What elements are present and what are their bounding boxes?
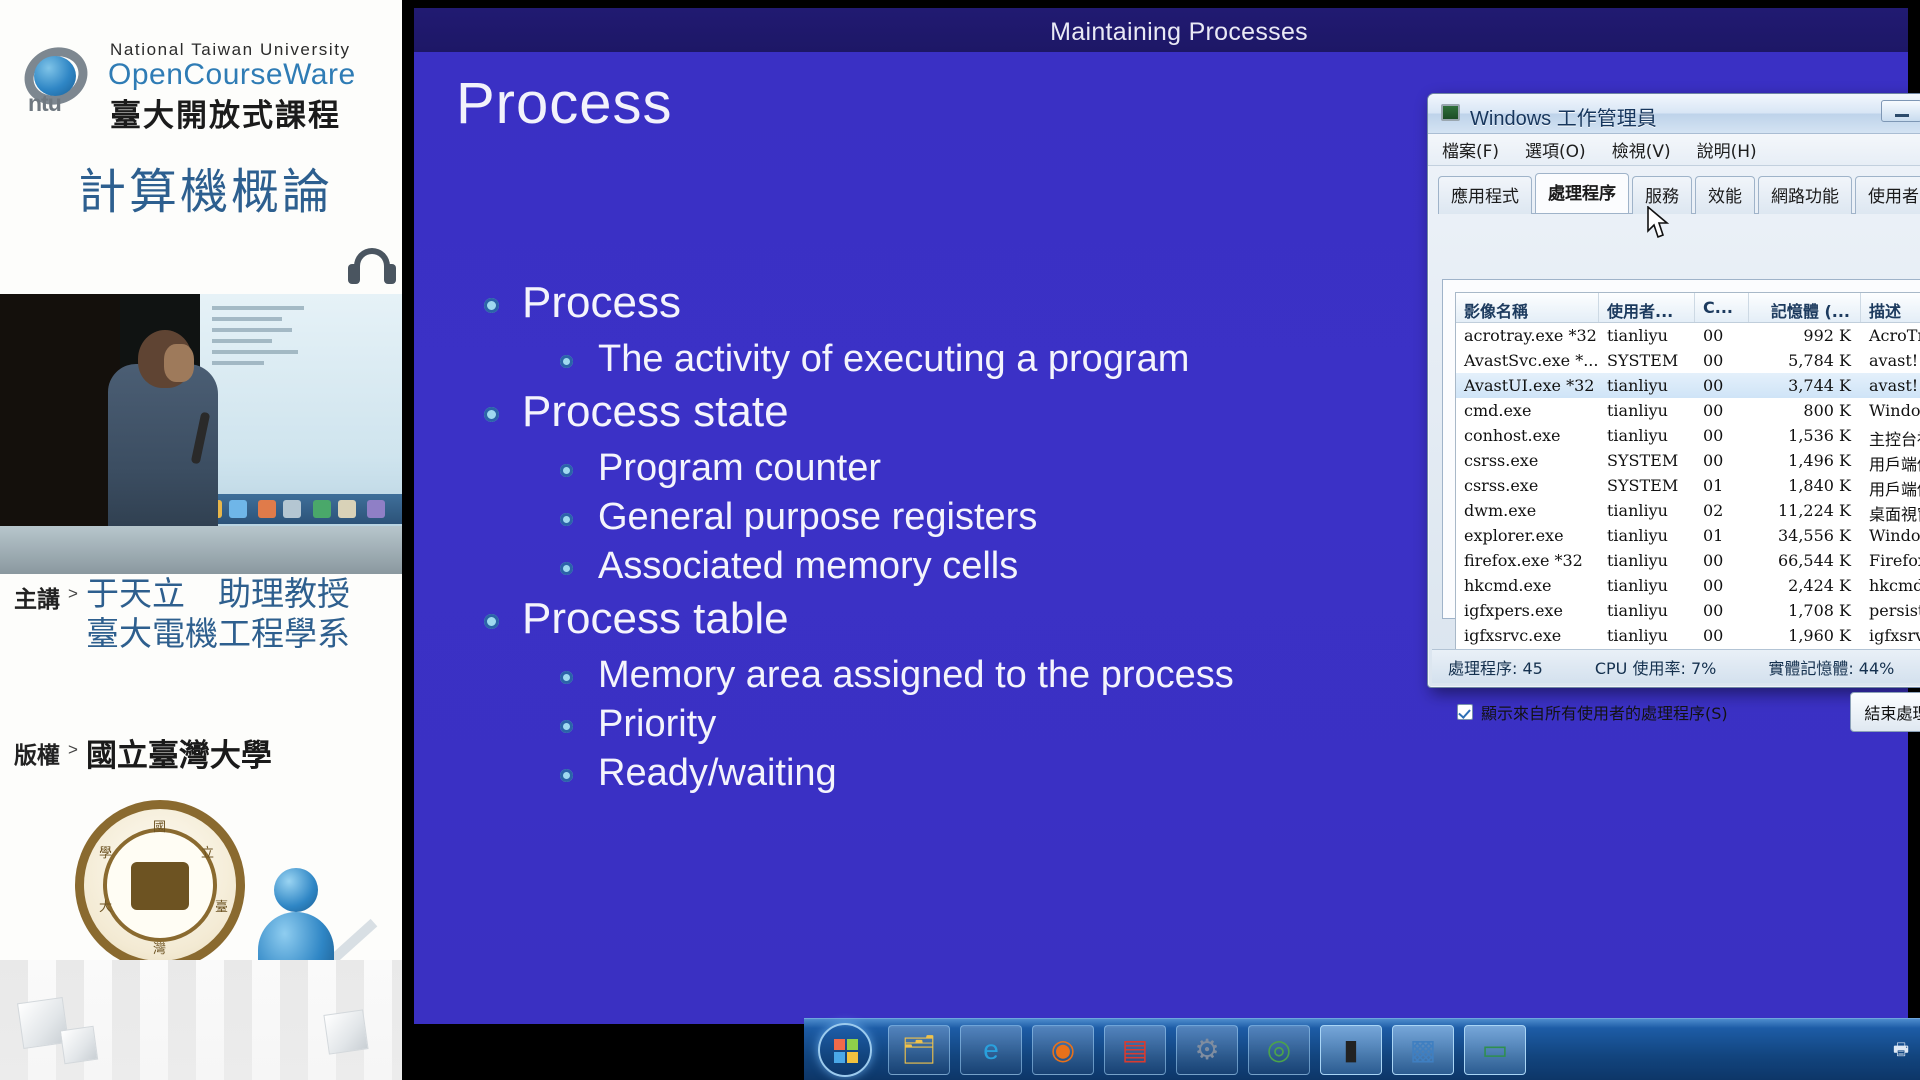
taskbar-item-task-manager[interactable]: ▩ [1392,1025,1454,1075]
instructor-name: 于天立 助理教授 [86,574,350,614]
task-manager-icon: ▩ [1410,1036,1436,1064]
table-cell: 00 [1695,573,1749,598]
tab-使用者[interactable]: 使用者 [1855,176,1920,214]
screen: ntu National Taiwan University OpenCours… [0,0,1920,1080]
table-cell: SYSTEM [1599,448,1695,473]
ntu-seal-icon: 國 立 臺 灣 大 學 [75,800,245,970]
table-cell: 800 K [1749,398,1861,423]
table-cell: conhost.exe [1456,423,1599,448]
table-cell: 桌面視窗… [1861,498,1920,523]
instructor-block: 主講 > 于天立 助理教授 臺大電機工程學系 [0,574,402,655]
windows-taskbar: 🗂e◉▤⚙◎▮▩▭ 🖶?⇅▲⚑⛨▁▃▅🔊 下午 05:21 2013/3/13 [804,1018,1920,1080]
start-orb[interactable] [818,1023,872,1077]
seal-char: 臺 [215,896,228,915]
lecture-video-thumbnail[interactable] [0,294,402,574]
table-row[interactable]: igfxpers.exetianliyu001,708 Kpersistence… [1456,598,1920,623]
slide-title: Process [456,70,673,137]
table-cell: csrss.exe [1456,473,1599,498]
table-cell: 01 [1695,473,1749,498]
seal-char: 大 [99,896,112,915]
taskbar-item-firefox[interactable]: ◉ [1032,1025,1094,1075]
table-cell: tianliyu [1599,598,1695,623]
printer-icon[interactable]: 🖶 [1889,1038,1913,1062]
column-header[interactable]: C... [1695,293,1749,322]
table-cell: 01 [1695,523,1749,548]
chrome-icon: ◎ [1267,1036,1291,1064]
table-body[interactable]: acrotray.exe *32tianliyu00992 KAcroTrayA… [1456,323,1920,678]
table-cell: 11,224 K [1749,498,1861,523]
menu-bar: 檔案(F)選項(O)檢視(V)說明(H) [1428,134,1920,166]
copyright-label: 版權 [14,730,60,770]
table-cell: 00 [1695,598,1749,623]
table-cell: explorer.exe [1456,523,1599,548]
window-title: Windows 工作管理員 [1470,102,1657,131]
table-cell: tianliyu [1599,373,1695,398]
minimize-button[interactable] [1881,100,1920,122]
taskbar-item-internet-explorer[interactable]: e [960,1025,1022,1075]
seal-char: 立 [201,842,214,861]
logo-line-opencourseware: OpenCourseWare [108,58,356,92]
table-row[interactable]: igfxsrvc.exetianliyu001,960 Kigfxsrvc M… [1456,623,1920,648]
table-cell: 02 [1695,498,1749,523]
taskbar-item-chrome[interactable]: ◎ [1248,1025,1310,1075]
table-cell: tianliyu [1599,498,1695,523]
seal-char: 國 [153,816,166,835]
processes-tab-panel: 影像名稱使用者...C...記憶體 (...描述 acrotray.exe *3… [1442,279,1920,619]
table-cell: hkcmd Mo… [1861,573,1920,598]
presentation-icon: ▭ [1482,1036,1508,1064]
task-manager-icon [1441,104,1460,121]
table-cell: 00 [1695,448,1749,473]
decorative-cube [323,1009,368,1054]
table-cell: avast! Serv… [1861,348,1920,373]
menu-item[interactable]: 選項(O) [1525,137,1586,162]
table-cell: 00 [1695,398,1749,423]
slide-header-band: Maintaining Processes [414,8,1908,52]
table-cell: 2,424 K [1749,573,1861,598]
status-cpu-usage: CPU 使用率: 7% [1595,655,1716,679]
table-cell: persistence… [1861,598,1920,623]
taskbar-item-network-tool[interactable]: ⚙ [1176,1025,1238,1075]
table-cell: igfxpers.exe [1456,598,1599,623]
table-cell: 1,840 K [1749,473,1861,498]
table-cell: 用戶端伺… [1861,448,1920,473]
slide-bullet-level-2: Ready/waiting [474,752,1474,795]
slide-bullet-level-2: Priority [474,703,1474,746]
slide-bullet-level-2: Memory area assigned to the process [474,654,1474,697]
table-cell: 00 [1695,348,1749,373]
slide-bullet-level-2: The activity of executing a program [474,338,1474,381]
table-cell: tianliyu [1599,423,1695,448]
column-header[interactable]: 描述 [1861,293,1920,322]
taskbar-item-pdf-reader[interactable]: ▤ [1104,1025,1166,1075]
table-row[interactable]: cmd.exetianliyu00800 KWindows … [1456,398,1920,423]
slide-bullet-level-2: General purpose registers [474,496,1474,539]
column-header[interactable]: 使用者... [1599,293,1695,322]
windows-explorer-icon: 🗂 [901,1036,937,1064]
table-header-row[interactable]: 影像名稱使用者...C...記憶體 (...描述 [1456,293,1920,323]
slide-bullet-list: ProcessThe activity of executing a progr… [474,278,1474,801]
table-cell: 1,536 K [1749,423,1861,448]
network-tool-icon: ⚙ [1194,1036,1219,1064]
table-cell: 主控台視… [1861,423,1920,448]
table-row[interactable]: AvastSvc.exe *...SYSTEM005,784 Kavast! S… [1456,348,1920,373]
table-cell: tianliyu [1599,323,1695,348]
minimize-icon [1895,114,1909,117]
seal-char: 灣 [153,938,166,957]
table-row[interactable]: firefox.exe *32tianliyu0066,544 KFirefox [1456,548,1920,573]
slide-bullet-level-1: Process [474,278,1474,328]
show-all-users-checkbox[interactable]: 顯示來自所有使用者的處理程序(S) [1457,700,1728,724]
menu-item[interactable]: 檢視(V) [1612,137,1671,162]
taskbar-item-windows-explorer[interactable]: 🗂 [888,1025,950,1075]
table-cell: 66,544 K [1749,548,1861,573]
pdf-reader-icon: ▤ [1122,1036,1148,1064]
status-bar: 處理程序: 45 CPU 使用率: 7% 實體記憶體: 44% [1432,649,1920,683]
logo-line-university: National Taiwan University [110,40,351,60]
table-cell: cmd.exe [1456,398,1599,423]
table-cell: 1,960 K [1749,623,1861,648]
command-prompt-icon: ▮ [1343,1036,1358,1064]
course-title: 計算機概論 [78,152,333,222]
table-cell: 00 [1695,323,1749,348]
tab-strip: 應用程式處理程序服務效能網路功能使用者 [1438,178,1920,214]
table-cell: 00 [1695,423,1749,448]
table-cell: tianliyu [1599,573,1695,598]
table-cell: Firefox [1861,548,1920,573]
table-cell: tianliyu [1599,623,1695,648]
taskbar-item-presentation[interactable]: ▭ [1464,1025,1526,1075]
instructor-label: 主講 [14,574,60,614]
table-cell: hkcmd.exe [1456,573,1599,598]
menu-item[interactable]: 說明(H) [1697,137,1757,162]
table-cell: tianliyu [1599,523,1695,548]
task-manager-window[interactable]: Windows 工作管理員 ✕ 檔案(F)選項(O)檢視(V)說明(H) 應用程… [1427,93,1920,688]
seal-char: 學 [99,842,112,861]
slide-bullet-level-1: Process state [474,387,1474,437]
system-tray: 🖶?⇅▲⚑⛨▁▃▅🔊 [1889,1019,1920,1080]
slide-bullet-level-2: Associated memory cells [474,545,1474,588]
logo-line-chinese: 臺大開放式課程 [110,90,341,135]
instructor-department: 臺大電機工程學系 [86,614,350,654]
table-cell: Windows … [1861,523,1920,548]
table-cell: 5,784 K [1749,348,1861,373]
window-titlebar[interactable]: Windows 工作管理員 ✕ [1428,94,1920,134]
show-all-users-label: 顯示來自所有使用者的處理程序(S) [1481,700,1728,724]
table-cell: SYSTEM [1599,473,1695,498]
decorative-cube [60,1026,98,1064]
table-cell: Windows … [1861,398,1920,423]
firefox-icon: ◉ [1051,1036,1075,1064]
table-cell: 992 K [1749,323,1861,348]
status-physical-memory: 實體記憶體: 44% [1768,655,1894,679]
table-row[interactable]: conhost.exetianliyu001,536 K主控台視… [1456,423,1920,448]
slide-bullet-level-2: Program counter [474,447,1474,490]
table-cell: acrotray.exe *32 [1456,323,1599,348]
table-cell: dwm.exe [1456,498,1599,523]
checkbox-box[interactable] [1457,704,1473,720]
internet-explorer-icon: e [983,1036,999,1064]
status-process-count: 處理程序: 45 [1448,655,1543,679]
table-row[interactable]: dwm.exetianliyu0211,224 K桌面視窗… [1456,498,1920,523]
copyright-block: 版權 > 國立臺灣大學 [0,730,402,775]
copyright-owner: 國立臺灣大學 [86,730,272,775]
table-cell: AcroTray [1861,323,1920,348]
column-header[interactable]: 影像名稱 [1456,293,1599,322]
course-info-sidebar: ntu National Taiwan University OpenCours… [0,0,402,1080]
table-row[interactable]: acrotray.exe *32tianliyu00992 KAcroTray [1456,323,1920,348]
taskbar-item-command-prompt[interactable]: ▮ [1320,1025,1382,1075]
table-row[interactable]: AvastUI.exe *32tianliyu003,744 Kavast! A… [1456,373,1920,398]
screen-capture-area: Maintaining Processes Process ProcessThe… [402,0,1920,1080]
menu-item[interactable]: 檔案(F) [1442,137,1499,162]
process-table[interactable]: 影像名稱使用者...C...記憶體 (...描述 acrotray.exe *3… [1455,292,1920,678]
table-cell: 00 [1695,548,1749,573]
table-row[interactable]: explorer.exetianliyu0134,556 KWindows … [1456,523,1920,548]
windows-flag-icon [834,1039,860,1065]
table-cell: SYSTEM [1599,348,1695,373]
slide-bullet-level-1: Process table [474,594,1474,644]
table-cell: 3,744 K [1749,373,1861,398]
instructor-caret: > [68,574,78,604]
tab-效能[interactable]: 效能 [1695,176,1755,214]
tab-處理程序[interactable]: 處理程序 [1535,173,1629,213]
column-header[interactable]: 記憶體 (... [1749,293,1861,322]
ntu-wordmark: ntu [28,90,61,117]
table-cell: AvastSvc.exe *... [1456,348,1599,373]
table-row[interactable]: csrss.exeSYSTEM011,840 K用戶端伺… [1456,473,1920,498]
table-cell: 00 [1695,373,1749,398]
table-cell: tianliyu [1599,398,1695,423]
end-process-button[interactable]: 結束處理程序(E) [1850,692,1920,732]
headphone-icon [348,248,398,288]
ntu-ocw-logo: ntu National Taiwan University OpenCours… [22,40,382,120]
table-cell: avast! Anti… [1861,373,1920,398]
copyright-caret: > [68,730,78,760]
table-cell: igfxsrvc M… [1861,623,1920,648]
slide-header-title: Maintaining Processes [1050,18,1308,47]
table-row[interactable]: hkcmd.exetianliyu002,424 Khkcmd Mo… [1456,573,1920,598]
table-cell: firefox.exe *32 [1456,548,1599,573]
table-cell: igfxsrvc.exe [1456,623,1599,648]
globe-icon: ntu [22,46,98,112]
table-row[interactable]: csrss.exeSYSTEM001,496 K用戶端伺… [1456,448,1920,473]
tab-網路功能[interactable]: 網路功能 [1758,176,1852,214]
table-cell: 34,556 K [1749,523,1861,548]
table-cell: 00 [1695,623,1749,648]
table-cell: 1,708 K [1749,598,1861,623]
table-cell: AvastUI.exe *32 [1456,373,1599,398]
panel-footer: 顯示來自所有使用者的處理程序(S) 結束處理程序(E) [1457,692,1920,732]
window-controls: ✕ [1881,100,1920,122]
table-cell: 1,496 K [1749,448,1861,473]
tab-應用程式[interactable]: 應用程式 [1438,176,1532,214]
table-cell: tianliyu [1599,548,1695,573]
table-cell: 用戶端伺… [1861,473,1920,498]
table-cell: csrss.exe [1456,448,1599,473]
